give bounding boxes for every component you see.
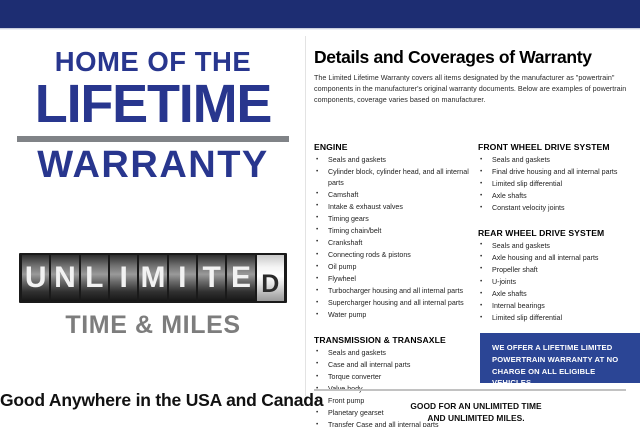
warranty-flyer-page: HOME OF THE LIFETIME WARRANTY U N L I M … <box>0 0 640 427</box>
list-item: Constant velocity joints <box>478 203 640 213</box>
section-heading-rear-wheel-drive: REAR WHEEL DRIVE SYSTEM <box>478 228 640 238</box>
top-navy-band <box>0 0 640 28</box>
coverage-column-right: FRONT WHEEL DRIVE SYSTEM Seals and gaske… <box>478 142 640 325</box>
odometer-cell: T <box>198 255 225 301</box>
lifetime-warranty-callout-box: WE OFFER A LIFETIME LIMITED POWERTRAIN W… <box>480 333 640 383</box>
list-item: Supercharger housing and all internal pa… <box>314 298 477 308</box>
odometer-cell: I <box>169 255 196 301</box>
list-item: Limited slip differential <box>478 313 640 323</box>
time-and-miles-label: TIME & MILES <box>19 311 287 340</box>
front-wheel-drive-coverage-list: Seals and gaskets Final drive housing an… <box>478 155 640 214</box>
left-brand-panel: HOME OF THE LIFETIME WARRANTY U N L I M … <box>0 30 305 427</box>
section-heading-transmission: TRANSMISSION & TRANSAXLE <box>314 335 477 345</box>
logo-line-home-of-the: HOME OF THE <box>17 48 289 76</box>
list-item: Axle shafts <box>478 191 640 201</box>
odometer-cell: I <box>110 255 137 301</box>
logo-divider-rule <box>17 136 289 142</box>
list-item: U-joints <box>478 277 640 287</box>
list-item: Case and all internal parts <box>314 360 477 370</box>
list-item: Water pump <box>314 310 477 320</box>
callout-line-1: WE OFFER A LIFETIME LIMITED <box>492 342 630 354</box>
odometer-cell-highlight: D <box>257 255 284 301</box>
list-item: Cylinder block, cylinder head, and all i… <box>314 167 477 188</box>
callout-line-3: CHARGE ON ALL ELIGIBLE VEHICLES. <box>492 366 630 390</box>
page-title: Details and Coverages of Warranty <box>314 47 592 68</box>
list-item: Intake & exhaust valves <box>314 202 477 212</box>
list-item: Oil pump <box>314 262 477 272</box>
list-item: Limited slip differential <box>478 179 640 189</box>
odometer-cell: L <box>81 255 108 301</box>
unlimited-odometer-block: U N L I M I T E D TIME & MILES <box>19 253 287 340</box>
callout-line-2: POWERTRAIN WARRANTY AT NO <box>492 354 630 366</box>
odometer-cell: U <box>22 255 49 301</box>
right-details-panel: Details and Coverages of Warranty The Li… <box>312 30 640 427</box>
list-item: Timing chain/belt <box>314 226 477 236</box>
footer-note: GOOD FOR AN UNLIMITED TIME AND UNLIMITED… <box>312 400 640 424</box>
list-item: Torque converter <box>314 372 477 382</box>
section-heading-engine: ENGINE <box>314 142 477 152</box>
list-item: Axle housing and all internal parts <box>478 253 640 263</box>
list-item: Axle shafts <box>478 289 640 299</box>
footer-line-2: AND UNLIMITED MILES. <box>312 412 640 424</box>
odometer-cell: M <box>139 255 166 301</box>
list-item: Crankshaft <box>314 238 477 248</box>
odometer-display: U N L I M I T E D <box>19 253 287 303</box>
logo-line-lifetime: LIFETIME <box>17 77 289 132</box>
list-item: Connecting rods & pistons <box>314 250 477 260</box>
list-item: Final drive housing and all internal par… <box>478 167 640 177</box>
panel-divider <box>305 36 306 396</box>
list-item: Seals and gaskets <box>314 155 477 165</box>
list-item: Camshaft <box>314 190 477 200</box>
lifetime-warranty-logo: HOME OF THE LIFETIME WARRANTY <box>17 48 289 184</box>
footer-line-1: GOOD FOR AN UNLIMITED TIME <box>312 400 640 412</box>
list-item: Internal bearings <box>478 301 640 311</box>
list-item: Seals and gaskets <box>478 155 640 165</box>
rear-wheel-drive-coverage-list: Seals and gaskets Axle housing and all i… <box>478 241 640 324</box>
list-item: Seals and gaskets <box>314 348 477 358</box>
logo-line-warranty: WARRANTY <box>17 146 289 184</box>
odometer-cell: N <box>51 255 78 301</box>
section-heading-front-wheel-drive: FRONT WHEEL DRIVE SYSTEM <box>478 142 640 152</box>
intro-paragraph: The Limited Lifetime Warranty covers all… <box>314 73 632 106</box>
good-anywhere-tagline: Good Anywhere in the USA and Canada <box>0 390 305 411</box>
list-item: Propeller shaft <box>478 265 640 275</box>
footer-divider-rule <box>314 389 626 391</box>
list-item: Seals and gaskets <box>478 241 640 251</box>
list-item: Turbocharger housing and all internal pa… <box>314 286 477 296</box>
engine-coverage-list: Seals and gaskets Cylinder block, cylind… <box>314 155 477 321</box>
odometer-cell: E <box>227 255 254 301</box>
coverage-column-left: ENGINE Seals and gaskets Cylinder block,… <box>314 142 477 427</box>
list-item: Flywheel <box>314 274 477 284</box>
list-item: Timing gears <box>314 214 477 224</box>
